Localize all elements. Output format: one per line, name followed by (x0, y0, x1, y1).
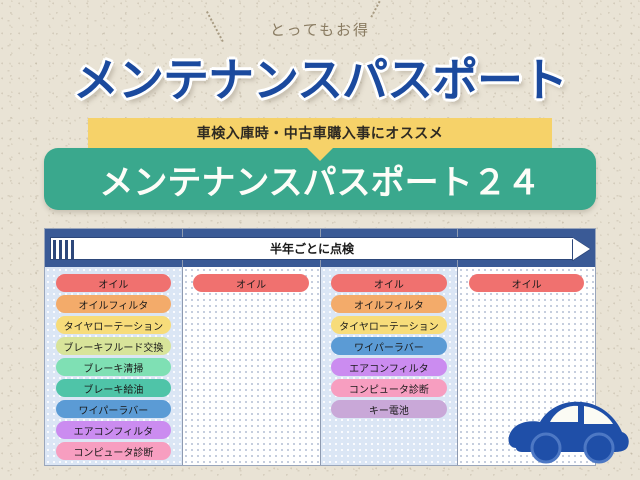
plan-name-text: メンテナンスパスポート２４ (99, 155, 540, 204)
maintenance-item[interactable]: オイル (56, 274, 171, 292)
maintenance-item[interactable]: コンピュータ診断 (331, 379, 446, 397)
arrow-label: 半年ごとに点検 (270, 240, 354, 257)
column-body: オイルオイルフィルタタイヤローテーションブレーキフルード交換ブレーキ清掃ブレーキ… (45, 267, 182, 465)
kicker-slash-left-icon (206, 12, 258, 46)
column-body: オイル (183, 267, 320, 465)
maintenance-item[interactable]: オイルフィルタ (56, 295, 171, 313)
page-title: メンテナンスパスポート (0, 47, 640, 107)
maintenance-item[interactable]: タイヤローテーション (331, 316, 446, 334)
maintenance-item[interactable]: オイル (331, 274, 446, 292)
schedule-column: オイルオイルフィルタタイヤローテーションブレーキフルード交換ブレーキ清掃ブレーキ… (45, 229, 183, 465)
schedule-column: オイル (183, 229, 321, 465)
schedule-column: オイルオイルフィルタタイヤローテーションワイパーラバーエアコンフィルタコンピュー… (321, 229, 459, 465)
schedule-arrow-bar: 半年ごとに点検 (50, 237, 590, 260)
maintenance-item[interactable]: ブレーキ給油 (56, 379, 171, 397)
recommendation-ribbon: 車検入庫時・中古車購入事にオススメ (88, 118, 552, 148)
maintenance-item[interactable]: キー電池 (331, 400, 446, 418)
arrow-body: 半年ごとに点検 (50, 237, 573, 260)
arrow-right-icon (573, 238, 590, 260)
kicker-slash-right-icon (382, 12, 434, 46)
ribbon-text: 車検入庫時・中古車購入事にオススメ (197, 123, 444, 143)
maintenance-item[interactable]: タイヤローテーション (56, 316, 171, 334)
ribbon-notch-icon (307, 148, 333, 161)
maintenance-item[interactable]: エアコンフィルタ (331, 358, 446, 376)
kicker-text: とってもお得 (270, 19, 370, 40)
column-body: オイルオイルフィルタタイヤローテーションワイパーラバーエアコンフィルタコンピュー… (321, 267, 458, 465)
maintenance-item[interactable]: オイル (469, 274, 584, 292)
maintenance-item[interactable]: オイルフィルタ (331, 295, 446, 313)
maintenance-item[interactable]: エアコンフィルタ (56, 421, 171, 439)
maintenance-item[interactable]: ワイパーラバー (56, 400, 171, 418)
maintenance-item[interactable]: ブレーキフルード交換 (56, 337, 171, 355)
maintenance-item[interactable]: オイル (193, 274, 308, 292)
maintenance-item[interactable]: ブレーキ清掃 (56, 358, 171, 376)
maintenance-item[interactable]: コンピュータ診断 (56, 442, 171, 460)
maintenance-item[interactable]: ワイパーラバー (331, 337, 446, 355)
barcode-icon (53, 239, 74, 260)
car-icon (504, 386, 634, 470)
